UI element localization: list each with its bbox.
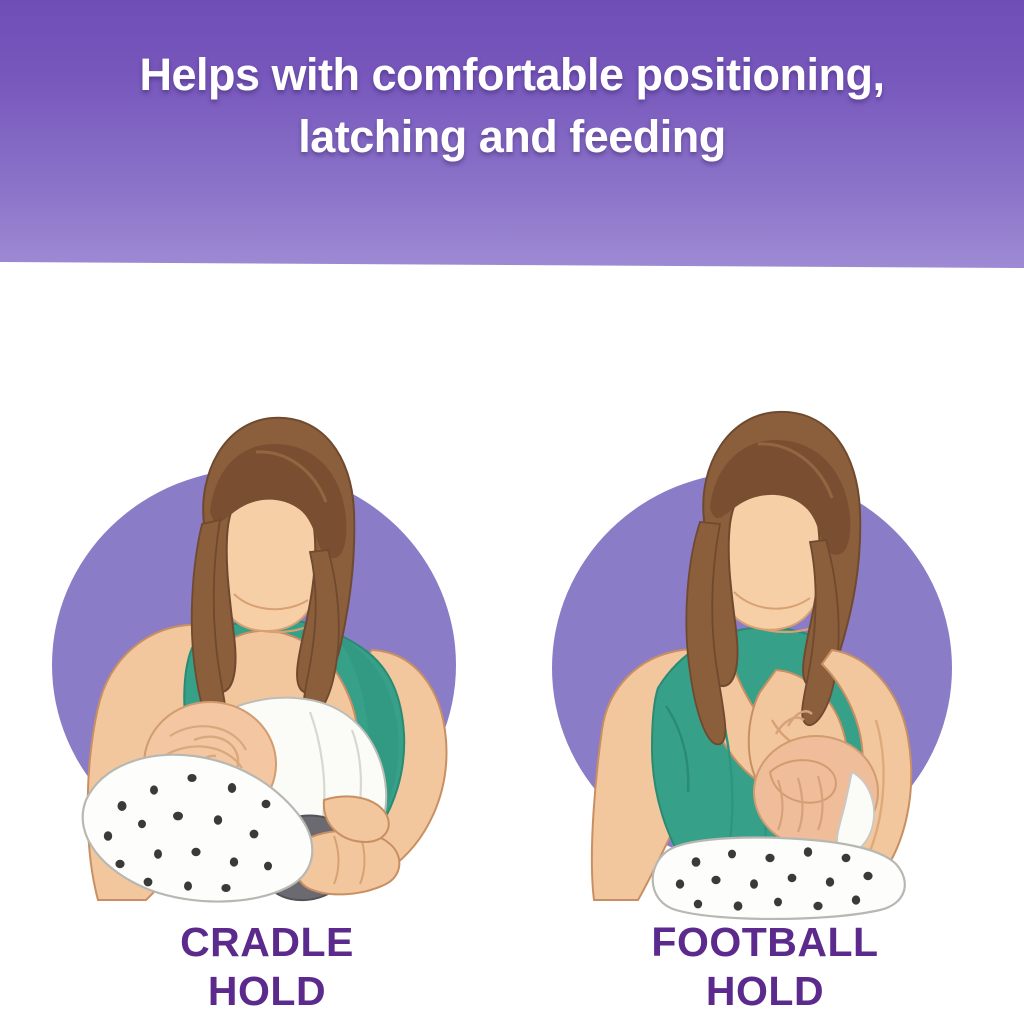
football-hold-svg [540, 400, 990, 920]
header-line-1: Helps with comfortable positioning, [0, 44, 1024, 106]
caption-cradle-line-2: HOLD [42, 967, 492, 1016]
cradle-hold-svg [42, 400, 492, 920]
infographic-page: Helps with comfortable positioning, latc… [0, 0, 1024, 1024]
caption-football-line-2: HOLD [540, 967, 990, 1016]
header-line-2: latching and feeding [0, 106, 1024, 168]
header-banner: Helps with comfortable positioning, latc… [0, 0, 1024, 270]
caption-cradle-line-1: CRADLE [180, 919, 354, 965]
header-text-block: Helps with comfortable positioning, latc… [0, 44, 1024, 168]
nursing-pillow [653, 838, 905, 919]
illustration-cradle-hold [42, 400, 492, 920]
caption-football-line-1: FOOTBALL [651, 919, 878, 965]
illustration-football-hold [540, 400, 990, 920]
caption-cradle-hold: CRADLE HOLD [42, 918, 492, 1016]
caption-football-hold: FOOTBALL HOLD [540, 918, 990, 1016]
